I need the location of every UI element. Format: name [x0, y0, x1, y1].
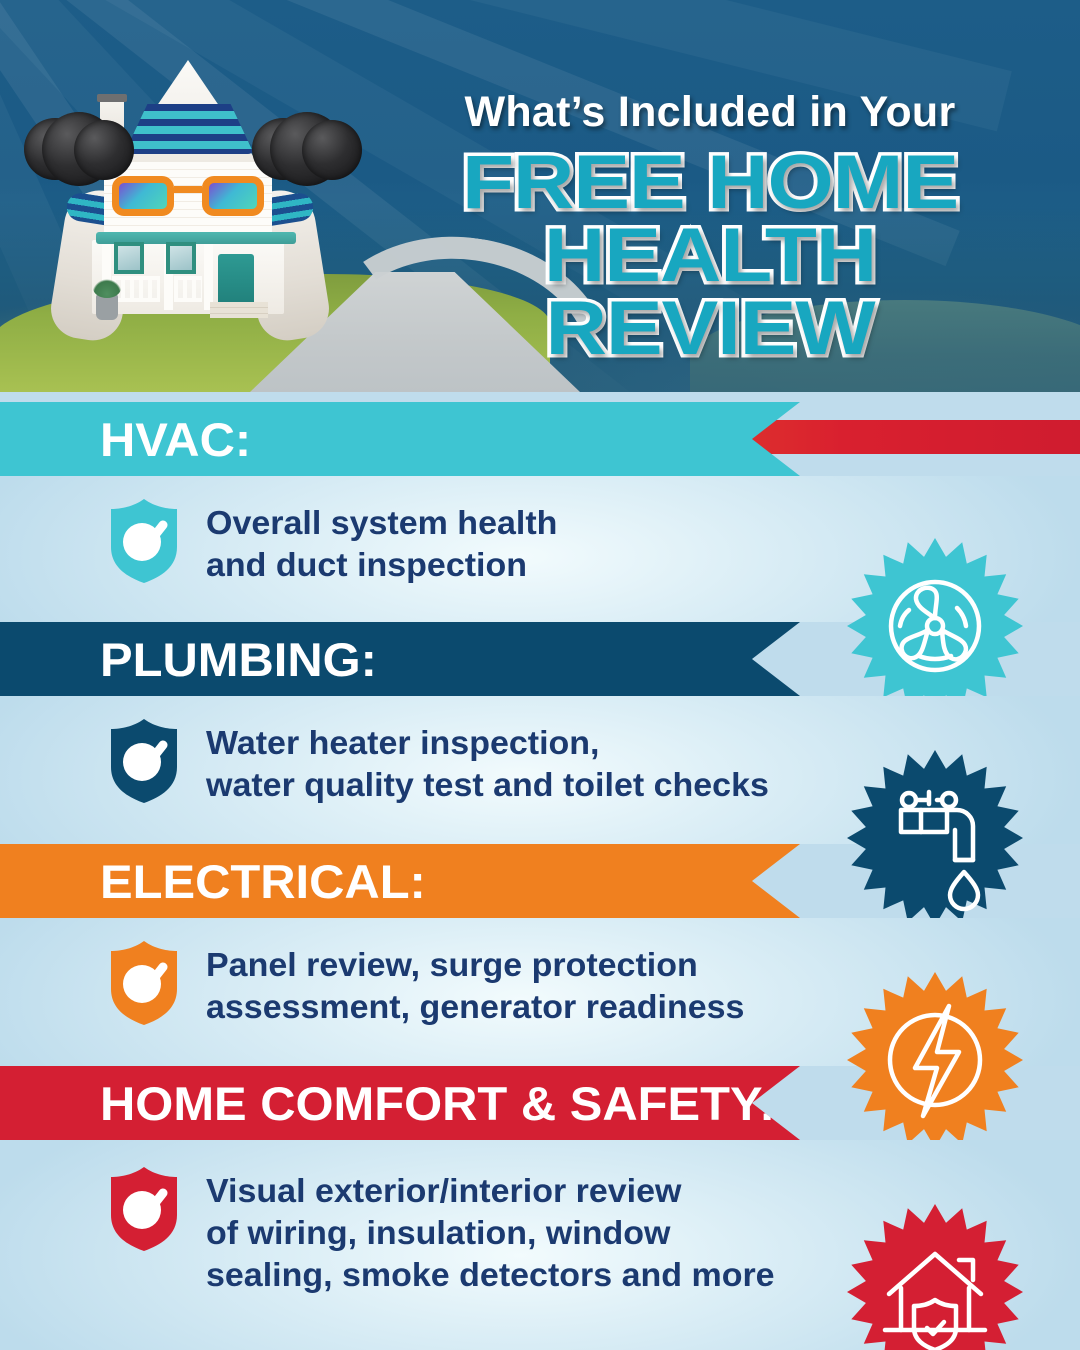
banner-label-electrical: ELECTRICAL: [100, 854, 426, 909]
glasses-bridge [174, 186, 202, 193]
potted-plant [96, 294, 118, 320]
house-body [84, 58, 292, 358]
beanie-hat [124, 104, 254, 154]
dumbbell-left [24, 106, 124, 192]
content-plumbing: Water heater inspection, water quality t… [108, 718, 753, 806]
porch-steps [210, 302, 268, 318]
window [114, 242, 144, 274]
banner-label-home-comfort-safety: HOME COMFORT & SAFETY: [100, 1076, 775, 1131]
shield-check-icon [108, 1166, 180, 1252]
banner-plumbing: PLUMBING: [0, 622, 800, 696]
porch [92, 240, 284, 314]
banner-home-comfort-safety: HOME COMFORT & SAFETY: [0, 1066, 800, 1140]
porch-column [204, 244, 213, 310]
shield-check-icon [108, 718, 180, 804]
section-hvac: HVAC:Overall system health and duct insp… [0, 390, 1080, 622]
content-electrical: Panel review, surge protection assessmen… [108, 940, 729, 1028]
headline-block: What’s Included in Your FREE HOME HEALTH… [360, 88, 1060, 366]
banner-label-hvac: HVAC: [100, 412, 251, 467]
header-hero: What’s Included in Your FREE HOME HEALTH… [0, 0, 1080, 392]
shield-check-icon [108, 940, 180, 1026]
headline-title: FREE HOME HEALTH REVIEW [318, 147, 1080, 366]
headline-title-line1: FREE HOME HEALTH [318, 147, 1080, 293]
dumbbell-plate [74, 120, 134, 180]
house-mascot [22, 40, 352, 370]
description-home-comfort-safety: Visual exterior/interior review of wirin… [206, 1166, 775, 1297]
description-electrical: Panel review, surge protection assessmen… [206, 940, 744, 1028]
headline-title-line2: REVIEW [318, 293, 1080, 366]
banner-label-plumbing: PLUMBING: [100, 632, 377, 687]
porch-railing [174, 276, 202, 302]
banner-electrical: ELECTRICAL: [0, 844, 800, 918]
section-electrical: ELECTRICAL:Panel review, surge protectio… [0, 844, 1080, 1066]
content-hvac: Overall system health and duct inspectio… [108, 498, 547, 586]
section-home-comfort-safety: HOME COMFORT & SAFETY:Visual exterior/in… [0, 1066, 1080, 1350]
content-home-comfort-safety: Visual exterior/interior review of wirin… [108, 1166, 758, 1297]
description-hvac: Overall system health and duct inspectio… [206, 498, 557, 586]
house-shield-check-icon [845, 1202, 1025, 1350]
infographic-poster: What’s Included in Your FREE HOME HEALTH… [0, 0, 1080, 1350]
section-plumbing: PLUMBING:Water heater inspection, water … [0, 622, 1080, 844]
headline-eyebrow: What’s Included in Your [360, 88, 1060, 137]
banner-hvac: HVAC: [0, 402, 800, 476]
sunglasses-icon [112, 176, 264, 220]
description-plumbing: Water heater inspection, water quality t… [206, 718, 769, 806]
window [166, 242, 196, 274]
shield-check-icon [108, 498, 180, 584]
